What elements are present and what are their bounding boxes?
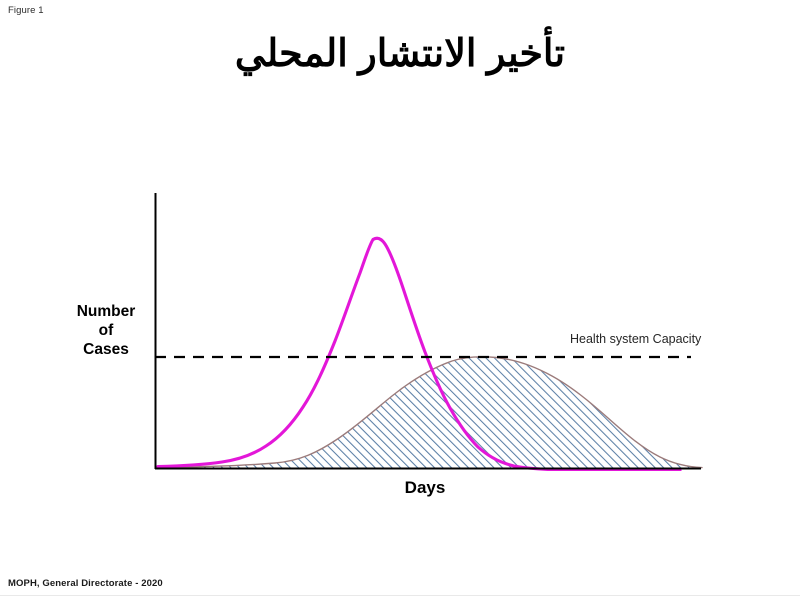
- x-axis-title: Days: [345, 478, 505, 498]
- footer-divider: [0, 595, 800, 596]
- footer-attribution: MOPH, General Directorate - 2020: [8, 578, 163, 589]
- slide-canvas: Figure 1 تأخير الانتشار المحلي: [0, 0, 800, 600]
- y-axis-title: Number of Cases: [62, 303, 150, 360]
- health-capacity-label: Health system Capacity: [570, 332, 701, 346]
- epidemic-curve-chart: [0, 0, 800, 600]
- y-axis-title-line-3: Cases: [62, 341, 150, 360]
- mitigated-curve-area: [160, 357, 702, 469]
- chart-container: Number of Cases Days Health system Capac…: [0, 0, 800, 600]
- y-axis-title-line-1: Number: [62, 303, 150, 322]
- y-axis-title-line-2: of: [62, 322, 150, 341]
